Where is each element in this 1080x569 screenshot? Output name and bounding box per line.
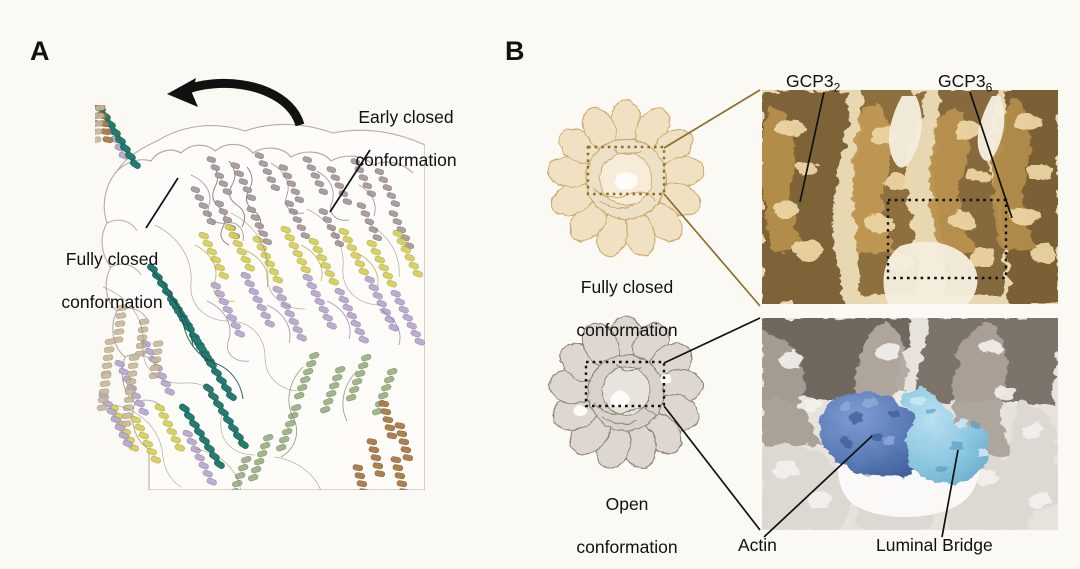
callout-line-gold-top (664, 90, 760, 148)
leader-line-luminal-bridge (942, 450, 958, 537)
label-line-1: Open (606, 494, 649, 514)
label-early-closed-conformation-a: Early closed conformation (322, 86, 490, 171)
luminal-bridge-density (901, 390, 990, 485)
label-luminal-bridge: Luminal Bridge (876, 535, 993, 556)
label-fully-closed-conformation-b: Fully closed conformation (544, 256, 710, 341)
label-line-2: conformation (61, 292, 162, 312)
label-line-2: conformation (355, 150, 456, 170)
figure-canvas: A B (0, 0, 1080, 569)
thumbnail-gamma-turc-gold (546, 100, 706, 259)
label-gcp3-6: GCP36 (938, 50, 992, 95)
label-gcp3-6-base: GCP3 (938, 71, 986, 91)
roi-box-grey-thumbnail (586, 362, 664, 406)
panel-letter-a: A (30, 38, 50, 65)
actin-density (819, 391, 926, 478)
label-line-1: Fully closed (581, 277, 673, 297)
label-gcp3-2-subscript: 2 (834, 81, 841, 95)
leader-line-actin (764, 436, 872, 537)
leader-line-gcp3-6 (970, 92, 1012, 218)
panel-letter-b: B (505, 38, 525, 65)
label-line-1: Fully closed (66, 249, 158, 269)
label-gcp3-2-base: GCP3 (786, 71, 834, 91)
roi-box-gold-thumbnail (588, 147, 664, 194)
label-fully-closed-conformation-a: Fully closed conformation (28, 228, 196, 313)
em-density-grey (762, 318, 1072, 530)
label-line-1: Early closed (358, 107, 453, 127)
label-gcp3-2: GCP32 (786, 50, 840, 95)
label-open-conformation-b: Open conformation (544, 473, 710, 558)
leader-line-gcp3-2 (800, 92, 824, 202)
label-gcp3-6-subscript: 6 (986, 81, 993, 95)
label-actin: Actin (738, 535, 777, 556)
label-line-2: conformation (576, 320, 677, 340)
label-line-2: conformation (576, 537, 677, 557)
em-density-gold (761, 90, 1058, 304)
inner-roi-box-top (888, 200, 1006, 278)
